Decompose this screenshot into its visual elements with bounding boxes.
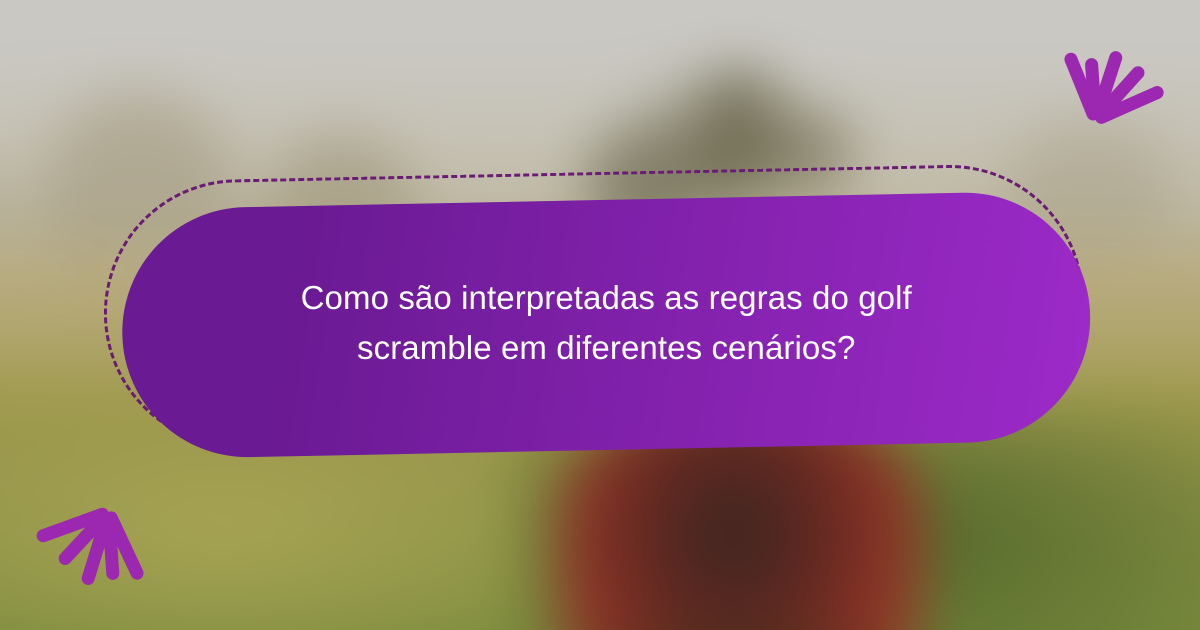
quote-text: Como são interpretadas as regras do golf… [236, 273, 976, 377]
quote-card: Como são interpretadas as regras do golf… [109, 168, 1094, 460]
share-card-canvas: Como são interpretadas as regras do golf… [0, 0, 1200, 630]
quote-card-body: Como são interpretadas as regras do golf… [120, 190, 1093, 459]
